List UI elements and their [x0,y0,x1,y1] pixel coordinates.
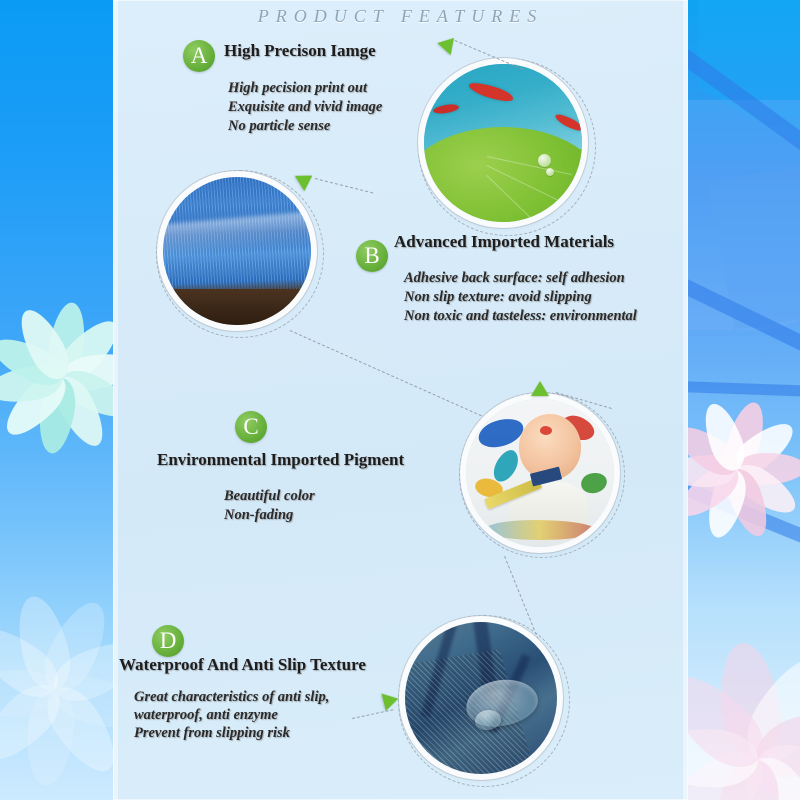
feature-line-a-3: No particle sense [228,117,330,136]
feature-line-b-2: Non slip texture: avoid slipping [404,288,592,307]
feature-title-b: Advanced Imported Materials [394,232,614,252]
feature-badge-c: C [235,411,267,443]
feature-line-d-3: Prevent from slipping risk [134,724,290,743]
lotus-leaf [424,127,582,222]
background-left-panel [0,0,118,800]
paint-splat-green [579,470,609,496]
page-title: PRODUCT FEATURES [113,6,688,27]
feature-line-b-1: Adhesive back surface: self adhesion [404,269,625,288]
feature-photo-a [424,64,582,222]
decor-stripe-3 [688,380,800,401]
feature-title-d: Waterproof And Anti Slip Texture [119,655,366,675]
background-right-panel [688,0,800,800]
feature-line-d-1: Great characteristics of anti slip, [134,688,329,707]
feature-photo-c [466,399,614,547]
fabric-backdrop [163,289,311,325]
feature-badge-a: A [183,40,215,72]
water-droplet-2 [546,168,554,176]
feature-line-b-3: Non toxic and tasteless: environmental [404,307,637,326]
feature-badge-b: B [356,240,388,272]
water-droplet-1 [538,154,551,167]
feature-badge-d: D [152,625,184,657]
product-features-infographic: PRODUCT FEATURES A High Precison Iamge H… [0,0,800,800]
feature-line-c-1: Beautiful color [224,487,315,506]
feature-line-d-2: waterproof, anti enzyme [134,706,278,725]
feature-title-a: High Precison Iamge [224,41,376,61]
feature-line-c-2: Non-fading [224,506,293,525]
panel-edge-left [113,0,118,800]
paint-dot-forehead [540,426,552,435]
feature-line-a-2: Exquisite and vivid image [228,98,382,117]
feature-title-c: Environmental Imported Pigment [157,450,404,470]
feature-line-a-1: High pecision print out [228,79,367,98]
feature-photo-d [405,622,557,774]
arrow-to-photo-c [531,381,549,396]
feature-photo-b [163,177,311,325]
panel-edge-right [683,0,688,800]
